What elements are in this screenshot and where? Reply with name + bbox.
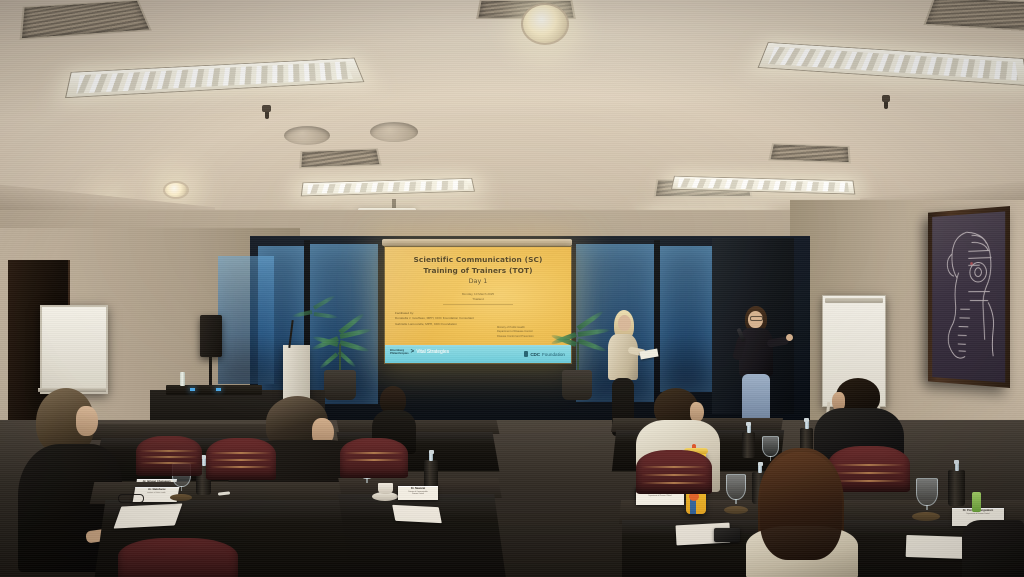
cdc-logo-mark bbox=[524, 351, 528, 357]
slide-divider bbox=[443, 304, 513, 305]
coaster bbox=[912, 512, 940, 521]
ceiling-speaker bbox=[284, 126, 330, 145]
slide-title-line-1: Scientific Communication (SC) bbox=[385, 255, 571, 264]
coffee-cup bbox=[378, 483, 393, 494]
bottle-cap bbox=[804, 418, 809, 422]
slide-facilitator-block: Facilitated by: Donatella J. Gouffeau, M… bbox=[395, 311, 500, 327]
attendee-front-woman bbox=[742, 448, 862, 577]
handout-paper bbox=[392, 505, 442, 523]
chevron-icon: > bbox=[411, 349, 415, 355]
water-bottle-tech-table bbox=[180, 372, 185, 386]
mixer-console bbox=[166, 385, 262, 395]
ceiling-downlight bbox=[163, 181, 189, 199]
mobile-phone[interactable] bbox=[714, 528, 740, 542]
bottle-neck bbox=[805, 421, 809, 429]
framed-elephant-artwork bbox=[928, 206, 1010, 388]
attendee-torso bbox=[962, 520, 1024, 577]
chair-slat bbox=[210, 452, 272, 454]
vital-strategies-logo: Vital Strategies bbox=[416, 349, 449, 355]
ceiling-speaker bbox=[370, 122, 418, 142]
console-indicator-light bbox=[216, 388, 221, 391]
attendee-far-right bbox=[962, 520, 1024, 577]
slide-title-line-2: Training of Trainers (TOT) bbox=[385, 266, 571, 275]
eyeglasses-icon bbox=[750, 316, 763, 321]
window-pane bbox=[660, 246, 712, 392]
eyeglasses bbox=[118, 494, 144, 503]
attendee-face bbox=[690, 402, 704, 422]
palm-frond bbox=[339, 340, 369, 353]
window-mullion bbox=[654, 240, 660, 402]
palm-frond bbox=[313, 294, 336, 309]
whiteboard[interactable] bbox=[40, 305, 108, 394]
chair-slat bbox=[641, 474, 708, 476]
notepad bbox=[114, 503, 183, 528]
presenter-right-torso bbox=[739, 328, 773, 376]
sprinkler-head bbox=[262, 105, 271, 112]
projection-screen[interactable]: Scientific Communication (SC) Training o… bbox=[384, 246, 572, 364]
facilitator-name-2: Gabrielle Lamourelle, MPH, CDC Foundatio… bbox=[395, 322, 500, 327]
nametent-subtitle: Department of Disease Control bbox=[952, 514, 1004, 516]
chair[interactable] bbox=[136, 436, 202, 476]
presentation-slide: Scientific Communication (SC) Training o… bbox=[385, 247, 571, 363]
slide-footer-bar: Bloomberg Philanthropies > Vital Strateg… bbox=[385, 345, 571, 363]
nametent-subtitle: Division of Communicable Disease Control bbox=[398, 492, 438, 496]
presenter-right-hand bbox=[786, 334, 793, 341]
wine-glass bbox=[916, 478, 938, 506]
chair-slat bbox=[641, 466, 708, 468]
chair[interactable] bbox=[206, 438, 276, 480]
artwork-canvas bbox=[932, 211, 1005, 382]
console-indicator-light bbox=[190, 388, 195, 391]
chair-slat bbox=[344, 459, 404, 461]
bottle-neck bbox=[429, 453, 433, 461]
chair[interactable] bbox=[340, 438, 408, 478]
sprinkler-head bbox=[882, 95, 890, 102]
plant-pot bbox=[562, 370, 592, 400]
ceiling-downlight bbox=[521, 3, 569, 45]
plant-stem bbox=[577, 342, 579, 372]
attendee-face bbox=[76, 406, 98, 436]
nametent-subtitle: Bureau of Epidemiology Department of Dis… bbox=[636, 494, 684, 498]
coaster bbox=[170, 494, 192, 501]
bottle-neck bbox=[955, 463, 959, 471]
attendee-hair-front bbox=[760, 452, 842, 560]
ceiling-vent bbox=[768, 143, 851, 163]
bottle-cap bbox=[429, 450, 434, 454]
chair-slat bbox=[140, 456, 198, 458]
elephant-icon bbox=[932, 211, 1005, 382]
hand-sanitizer-bottle bbox=[972, 492, 981, 512]
palm-frond bbox=[314, 312, 338, 319]
table-row: Dr. Nawarat Division of Communicable Dis… bbox=[398, 486, 438, 500]
cdc-brand-text: CDC bbox=[530, 352, 540, 357]
flipchart-clamp bbox=[825, 298, 883, 303]
slide-title-line-3: Day 1 bbox=[385, 277, 571, 285]
bloomberg-philanthropies-logo: Bloomberg Philanthropies > Vital Strateg… bbox=[390, 349, 449, 356]
plant-stem bbox=[339, 344, 341, 372]
training-room-photo: Scientific Communication (SC) Training o… bbox=[0, 0, 1024, 577]
chair-foreground[interactable] bbox=[118, 538, 238, 577]
logo-left-label: Bloomberg Philanthropies bbox=[390, 349, 409, 356]
presenter-left-head bbox=[618, 315, 631, 331]
ceiling-vent bbox=[299, 148, 382, 168]
chair-slat bbox=[210, 459, 272, 461]
water-bottle bbox=[948, 470, 965, 506]
chair-slat bbox=[210, 466, 272, 468]
bottle-neck bbox=[202, 458, 206, 466]
chair-slat bbox=[344, 452, 404, 454]
bottle-neck bbox=[747, 425, 751, 433]
bottle-cap bbox=[746, 422, 751, 426]
chair[interactable] bbox=[636, 450, 712, 494]
chair-slat bbox=[140, 450, 198, 452]
presenter-left-torso bbox=[608, 334, 638, 380]
handout-paper bbox=[906, 535, 969, 559]
loudspeaker bbox=[200, 315, 222, 357]
chair-slat bbox=[140, 462, 198, 464]
window-pane bbox=[218, 256, 274, 384]
slide-subtitle: Monday, 10 March 2025 Thailand bbox=[385, 292, 571, 301]
bottle-cap bbox=[954, 460, 959, 464]
chair-slat bbox=[641, 482, 708, 484]
projection-screen-housing bbox=[382, 239, 572, 246]
